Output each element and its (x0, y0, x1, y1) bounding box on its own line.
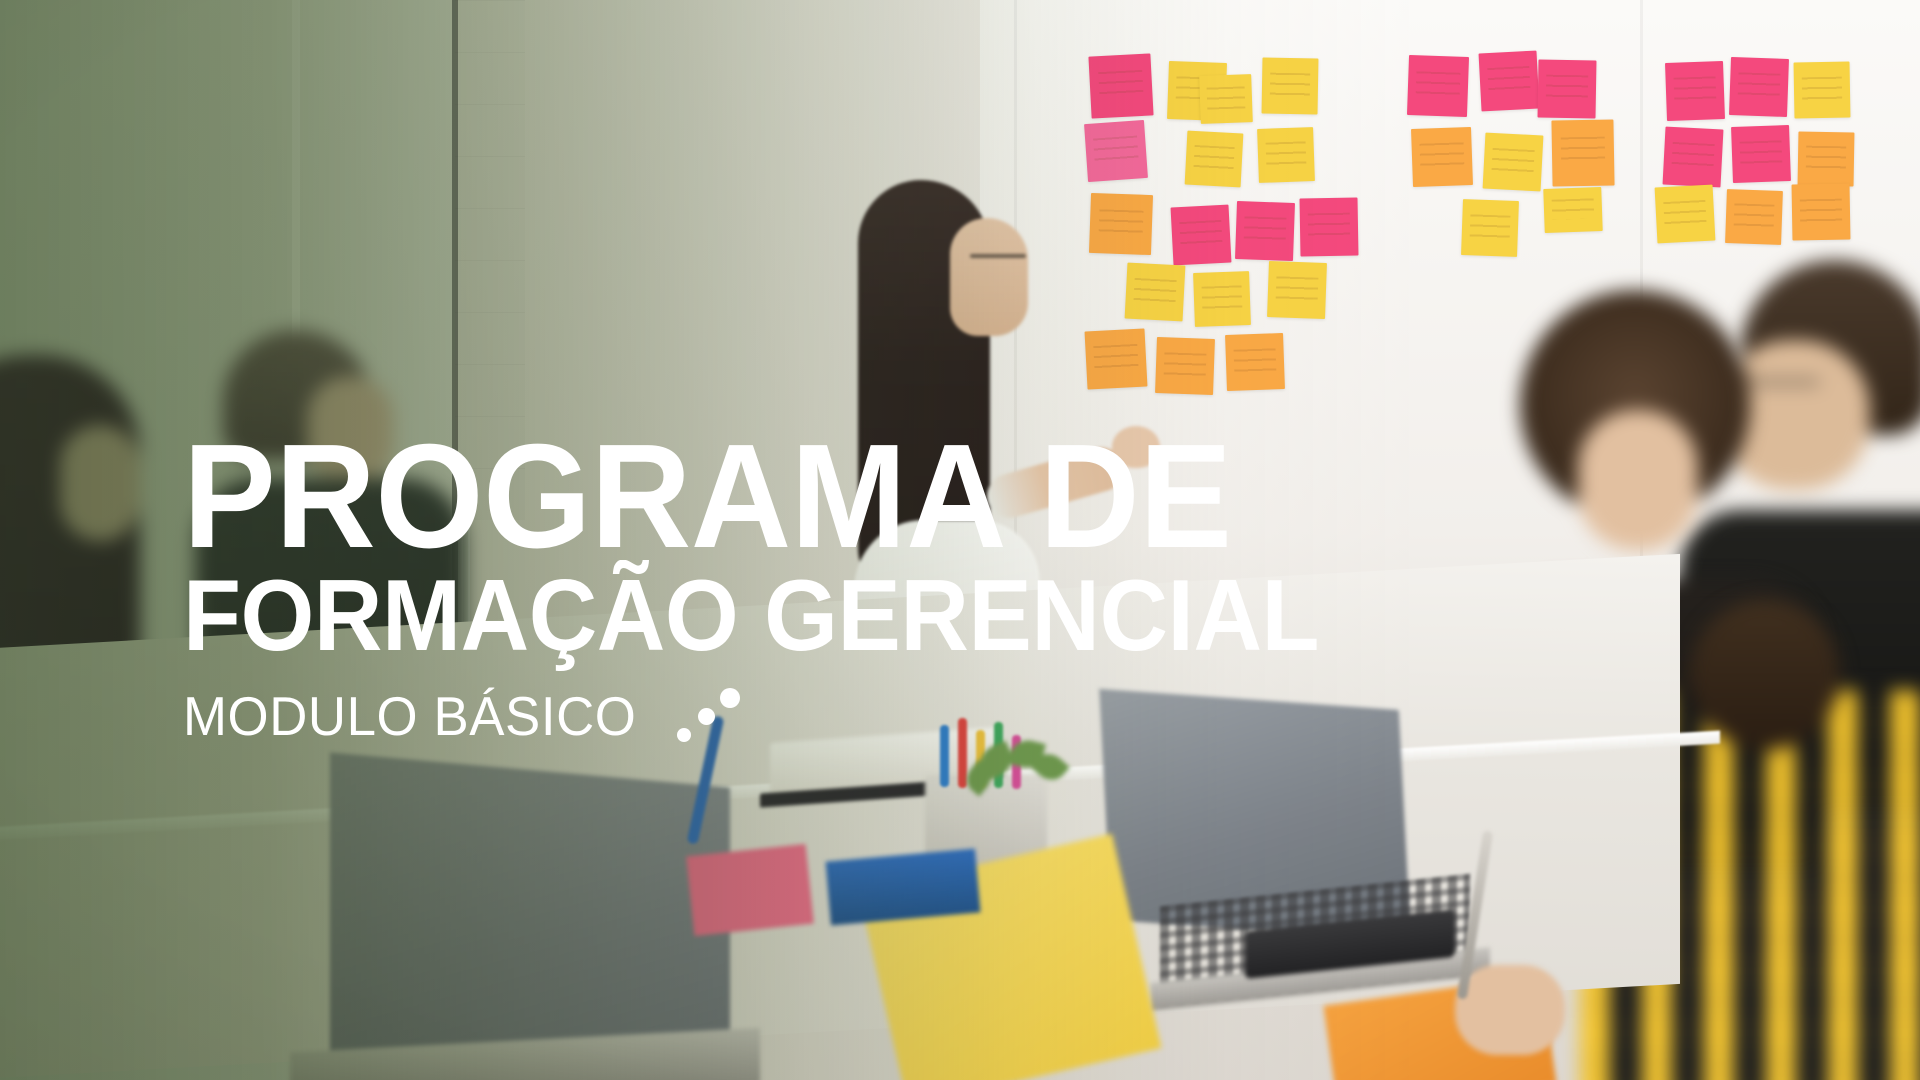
three-ascending-dots-decoration (675, 688, 741, 744)
subtitle-row: MODULO BÁSICO (183, 688, 1392, 744)
page-subtitle: MODULO BÁSICO (183, 689, 636, 744)
hero-copy-block: PROGRAMA DE FORMAÇÃO GERENCIAL MODULO BÁ… (183, 430, 1392, 744)
decor-dot-small (677, 728, 691, 742)
hero-banner: PROGRAMA DE FORMAÇÃO GERENCIAL MODULO BÁ… (0, 0, 1920, 1080)
page-title-line-2: FORMAÇÃO GERENCIAL (183, 571, 1319, 662)
page-title-line-1: PROGRAMA DE (183, 430, 1319, 563)
decor-dot-large (720, 688, 740, 708)
decor-dot-medium (698, 708, 715, 725)
